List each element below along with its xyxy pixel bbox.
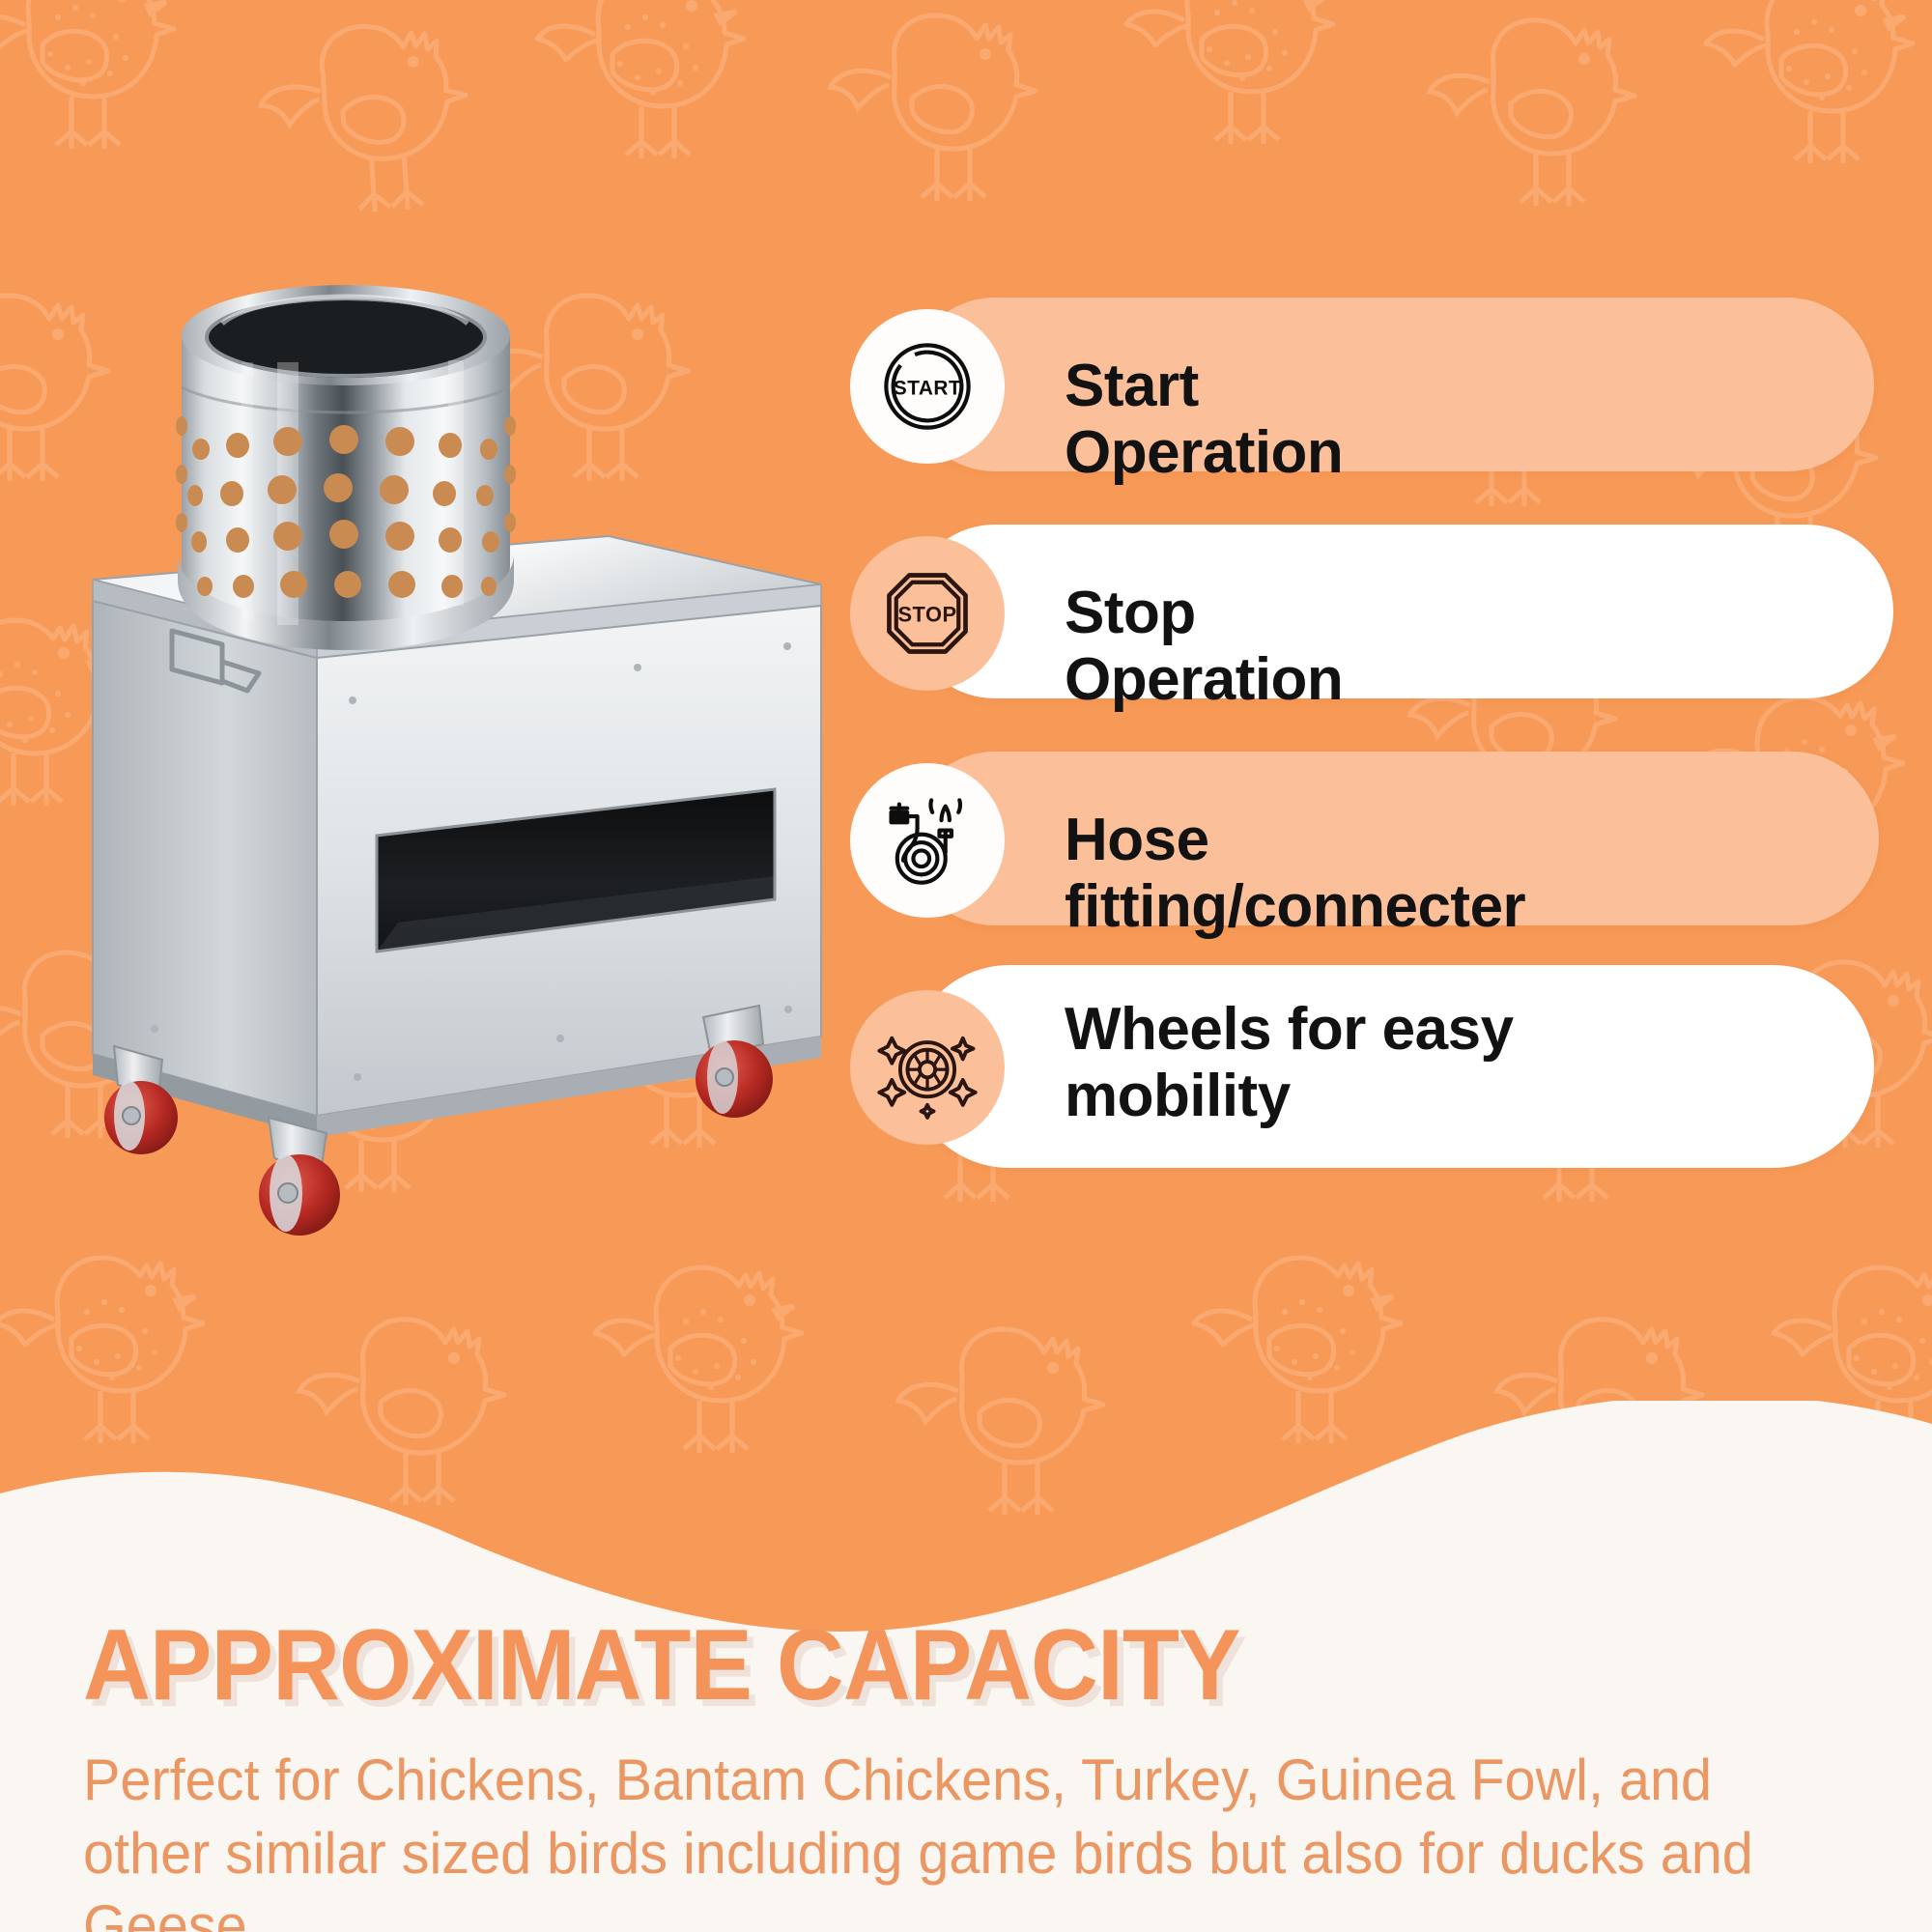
caster-wheel bbox=[259, 1118, 340, 1236]
feature-label: Hose fitting/connecter bbox=[1065, 807, 1525, 941]
feature-label: Wheels for easy mobility bbox=[1065, 996, 1702, 1130]
hose-reel-faucet-icon-badge bbox=[850, 763, 1005, 918]
stop-sign-icon-badge: STOP bbox=[850, 536, 1005, 691]
hose-reel-faucet-icon bbox=[877, 790, 978, 891]
feature-label: Start Operation bbox=[1065, 353, 1343, 487]
feature-pill bbox=[908, 525, 1893, 698]
start-button-icon-badge: START bbox=[850, 309, 1005, 464]
caster-wheel bbox=[696, 1006, 773, 1118]
feature-list: START Start Operation STOP Stop Operatio… bbox=[850, 309, 1874, 1256]
start-button-icon: START bbox=[877, 336, 978, 437]
product-image-plucker-machine bbox=[58, 246, 850, 1270]
capacity-headline: APPROXIMATE CAPACITY bbox=[83, 1608, 1240, 1723]
svg-text:STOP: STOP bbox=[897, 602, 956, 626]
hero-section: START Start Operation STOP Stop Operatio… bbox=[0, 0, 1932, 1662]
wheel-sparkle-icon-badge bbox=[850, 990, 1005, 1145]
svg-text:START: START bbox=[894, 377, 961, 399]
feature-label: Stop Operation bbox=[1065, 580, 1343, 714]
infographic-canvas: START Start Operation STOP Stop Operatio… bbox=[0, 0, 1932, 1932]
stop-sign-icon: STOP bbox=[877, 563, 978, 664]
capacity-description: Perfect for Chickens, Bantam Chickens, T… bbox=[83, 1744, 1789, 1932]
wheel-sparkle-icon bbox=[875, 1015, 980, 1120]
feature-pill bbox=[908, 298, 1874, 471]
